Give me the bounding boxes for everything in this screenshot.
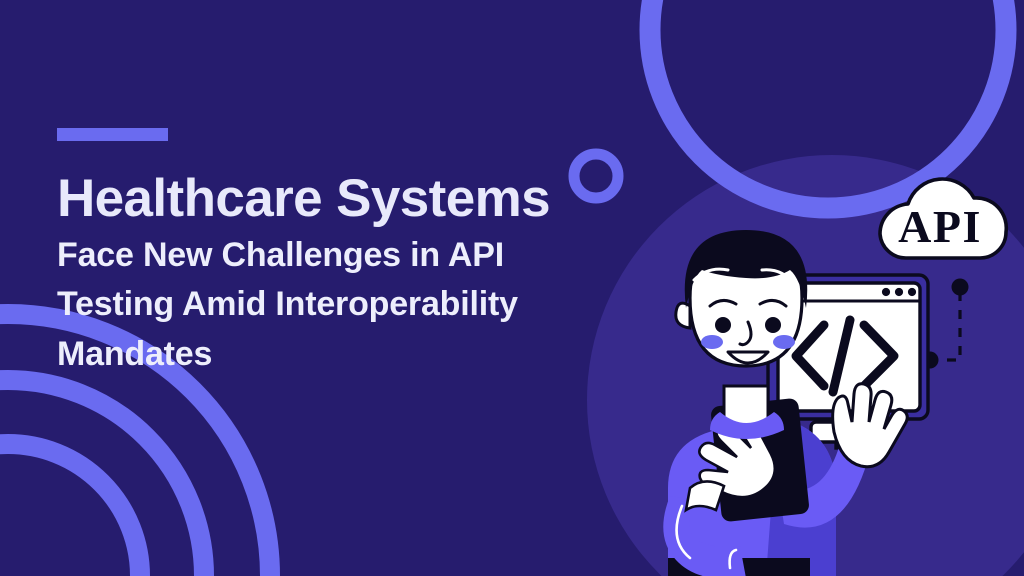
titlebar-dot-2 <box>895 288 903 296</box>
subtitle-line-2: Testing Amid Interoperability <box>57 285 518 323</box>
developer-api-testing-illustration: API <box>628 170 1024 576</box>
accent-bar <box>57 128 168 141</box>
person-ear <box>676 303 690 328</box>
connector-node-top <box>952 279 969 296</box>
person-blush-left <box>701 335 723 349</box>
titlebar-dot-3 <box>908 288 916 296</box>
dashed-connector-path <box>936 292 960 360</box>
subtitle-line-1: Face New Challenges in API <box>57 236 504 274</box>
person-eye-right <box>765 317 781 333</box>
banner-root: Healthcare Systems Face New Challenges i… <box>0 0 1024 576</box>
titlebar-dot-1 <box>882 288 890 296</box>
hand-holding-cuff <box>686 481 724 510</box>
page-title: Healthcare Systems <box>57 172 677 225</box>
monitor-titlebar-dots <box>882 288 916 296</box>
api-cloud-badge: API <box>880 179 1006 258</box>
subtitle-line-3: Mandates <box>57 335 212 373</box>
page-subtitle: Face New Challenges in APITesting Amid I… <box>57 231 617 379</box>
person-blush-right <box>773 335 795 349</box>
api-cloud-label: API <box>898 201 982 252</box>
person-eye-left <box>715 317 731 333</box>
headline-block: Healthcare Systems Face New Challenges i… <box>57 128 677 379</box>
